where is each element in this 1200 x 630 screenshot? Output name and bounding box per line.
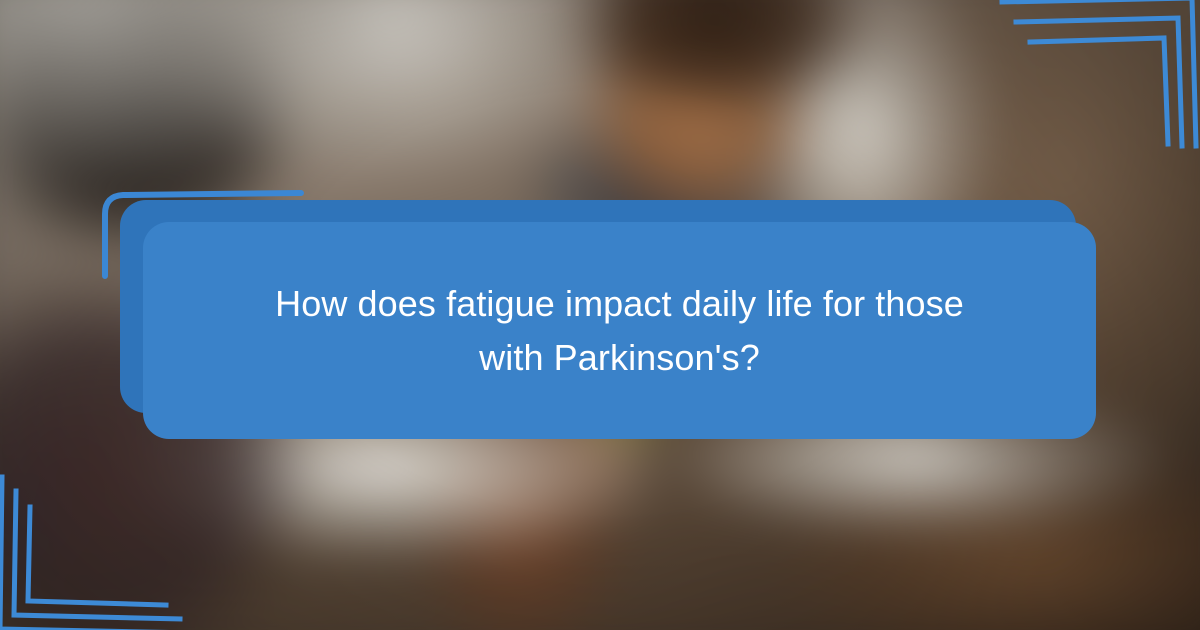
question-card: How does fatigue impact daily life for t… xyxy=(143,222,1096,439)
social-card-canvas: How does fatigue impact daily life for t… xyxy=(0,0,1200,630)
question-headline: How does fatigue impact daily life for t… xyxy=(240,277,1000,385)
